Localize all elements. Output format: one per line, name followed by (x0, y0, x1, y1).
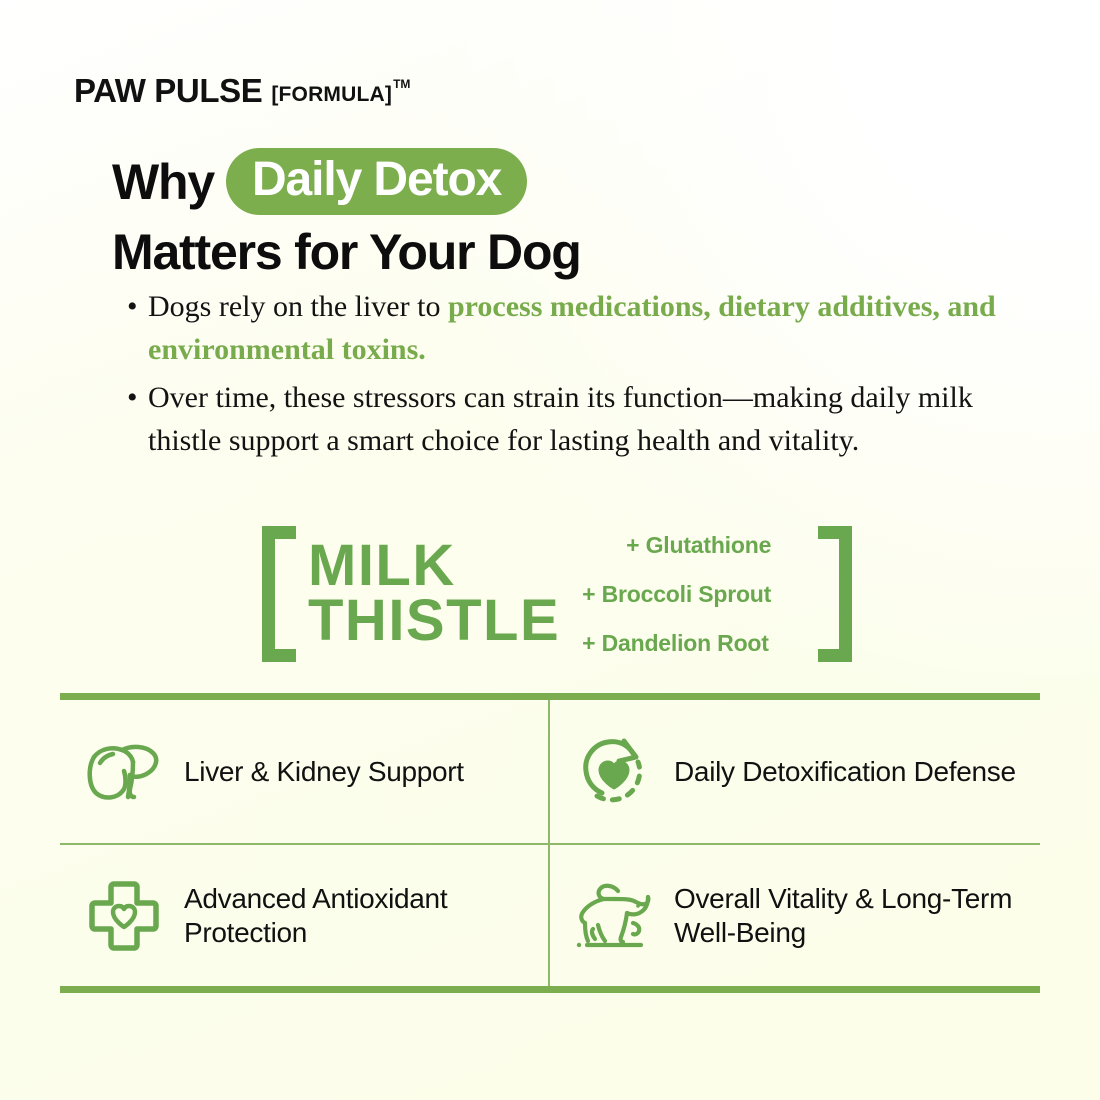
daily-detox-pill: Daily Detox (226, 148, 527, 215)
feature-label: Advanced Antioxidant Protection (184, 882, 538, 949)
feature-cell-daily-detox: Daily Detoxification Defense (550, 700, 1040, 843)
headline-line-1: Why Daily Detox (112, 148, 1012, 215)
headline-word-why: Why (112, 157, 214, 207)
feature-cell-vitality: Overall Vitality & Long-Term Well-Being (550, 843, 1040, 986)
dog-icon (568, 873, 660, 959)
list-item: • Over time, these stressors can strain … (120, 377, 1000, 462)
additional-ingredient: + Broccoli Sprout (582, 583, 771, 606)
bullet-list: • Dogs rely on the liver to process medi… (120, 286, 1000, 462)
feature-label: Liver & Kidney Support (184, 755, 464, 789)
bullet-marker: • (127, 286, 138, 329)
primary-ingredient-line-1: MILK (308, 538, 560, 593)
headline-line-2: Matters for Your Dog (112, 227, 1012, 277)
additional-ingredients: + Glutathione + Broccoli Sprout + Dandel… (582, 534, 771, 655)
feature-label: Daily Detoxification Defense (674, 755, 1016, 789)
ingredient-lockup-content: MILK THISTLE + Glutathione + Broccoli Sp… (296, 526, 818, 662)
feature-cell-antioxidant: Advanced Antioxidant Protection (60, 843, 550, 986)
primary-ingredient-line-2: THISTLE (308, 593, 560, 648)
liver-kidney-icon (78, 729, 170, 815)
daily-detox-pill-label: Daily Detox (252, 156, 501, 204)
bullet-text-plain: Dogs rely on the liver to (148, 290, 448, 323)
detox-cycle-heart-icon (568, 729, 660, 815)
poster-canvas: PAW PULSE [FORMULA] TM Why Daily Detox M… (0, 0, 1100, 1100)
medical-cross-heart-icon (78, 873, 170, 959)
primary-ingredient-name: MILK THISTLE (308, 538, 560, 648)
feature-label: Overall Vitality & Long-Term Well-Being (674, 882, 1030, 949)
feature-cell-liver-kidney: Liver & Kidney Support (60, 700, 550, 843)
bullet-marker: • (127, 377, 138, 420)
brand-lockup: PAW PULSE [FORMULA] TM (74, 74, 410, 107)
additional-ingredient: + Glutathione (626, 534, 771, 557)
page-title: Why Daily Detox Matters for Your Dog (112, 148, 1012, 277)
list-item: • Dogs rely on the liver to process medi… (120, 286, 1000, 371)
ingredient-lockup: MILK THISTLE + Glutathione + Broccoli Sp… (262, 526, 852, 662)
bracket-left-icon (262, 526, 296, 662)
bracket-right-icon (818, 526, 852, 662)
additional-ingredient: + Dandelion Root (582, 632, 771, 655)
bullet-text-plain: Over time, these stressors can strain it… (148, 381, 973, 457)
trademark-symbol: TM (393, 78, 410, 90)
headline-subtitle: Matters for Your Dog (112, 227, 581, 277)
brand-qualifier: [FORMULA] (271, 84, 392, 105)
feature-grid: Liver & Kidney Support Daily Detoxificat… (60, 693, 1040, 993)
brand-name: PAW PULSE (74, 74, 262, 107)
